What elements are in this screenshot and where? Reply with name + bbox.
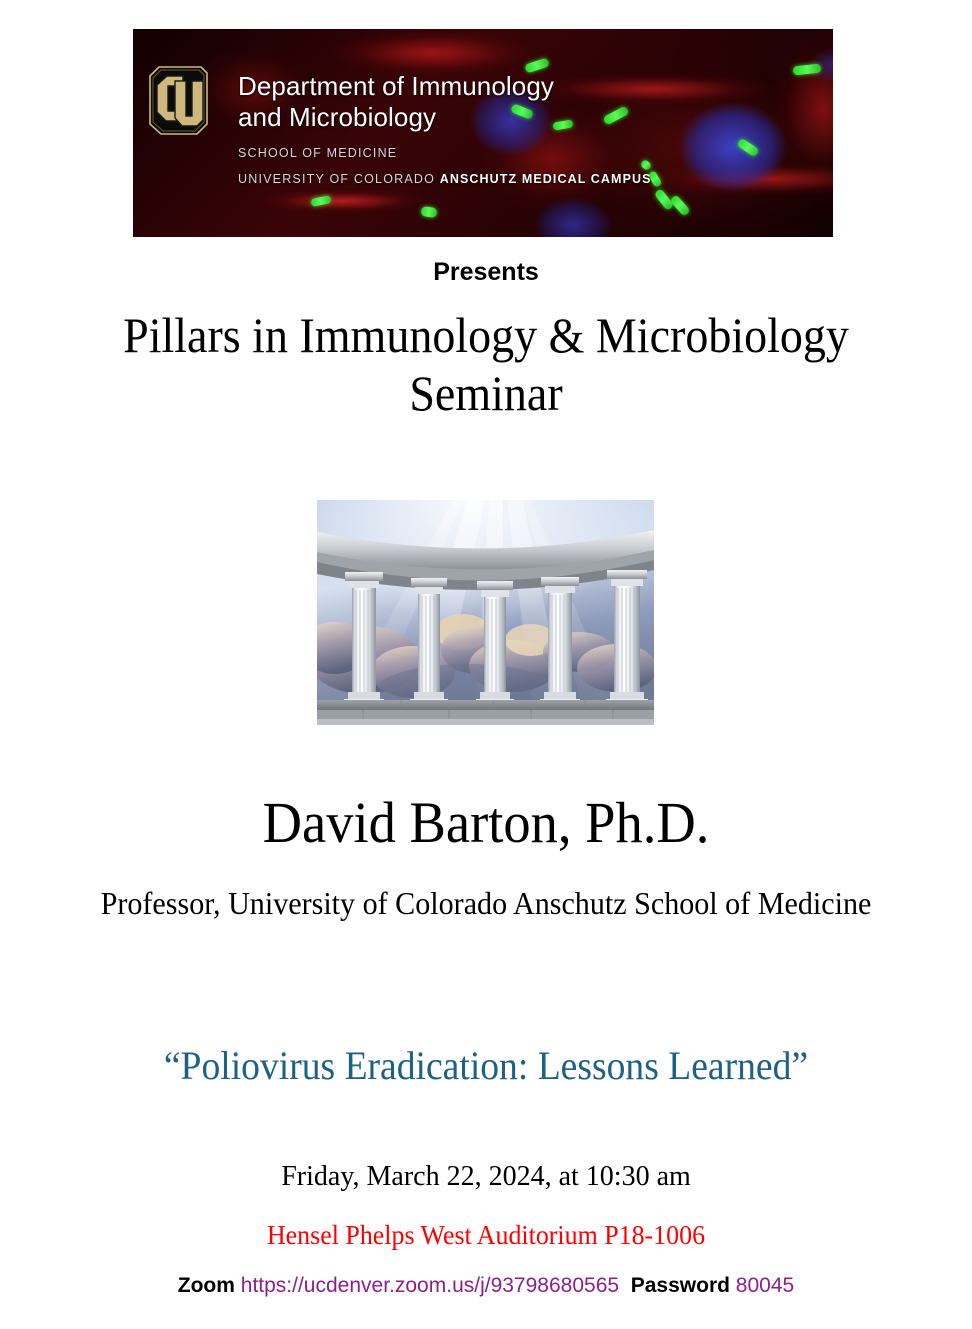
- zoom-label: Zoom: [178, 1274, 235, 1297]
- university-prefix: UNIVERSITY OF COLORADO: [238, 172, 440, 186]
- zoom-meeting-info: Zoom https://ucdenver.zoom.us/j/93798680…: [0, 1272, 972, 1299]
- presents-label: Presents: [0, 258, 972, 287]
- department-line-1: Department of Immunology: [238, 71, 652, 102]
- pillars-hero-image: [317, 500, 654, 725]
- department-line-2: and Microbiology: [238, 102, 652, 133]
- talk-title: “Poliovirus Eradication: Lessons Learned…: [52, 1042, 921, 1090]
- event-date-time: Friday, March 22, 2024, at 10:30 am: [0, 1160, 972, 1194]
- school-of-medicine-line: SCHOOL OF MEDICINE: [238, 146, 652, 160]
- campus-name: ANSCHUTZ MEDICAL CAMPUS: [440, 172, 652, 186]
- banner-text-block: Department of Immunology and Microbiolog…: [238, 71, 652, 186]
- password-value: 80045: [736, 1274, 794, 1297]
- cu-department-banner: Department of Immunology and Microbiolog…: [133, 29, 833, 237]
- speaker-name: David Barton, Ph.D.: [29, 790, 943, 856]
- zoom-url-link[interactable]: https://ucdenver.zoom.us/j/93798680565: [241, 1274, 619, 1297]
- event-venue: Hensel Phelps West Auditorium P18-1006: [19, 1219, 952, 1252]
- cu-interlocking-logo-icon: [145, 62, 211, 140]
- university-campus-line: UNIVERSITY OF COLORADO ANSCHUTZ MEDICAL …: [238, 172, 652, 186]
- password-label: Password: [631, 1274, 730, 1297]
- speaker-affiliation: Professor, University of Colorado Anschu…: [76, 882, 896, 924]
- seminar-series-title: Pillars in Immunology & Microbiology Sem…: [76, 306, 897, 422]
